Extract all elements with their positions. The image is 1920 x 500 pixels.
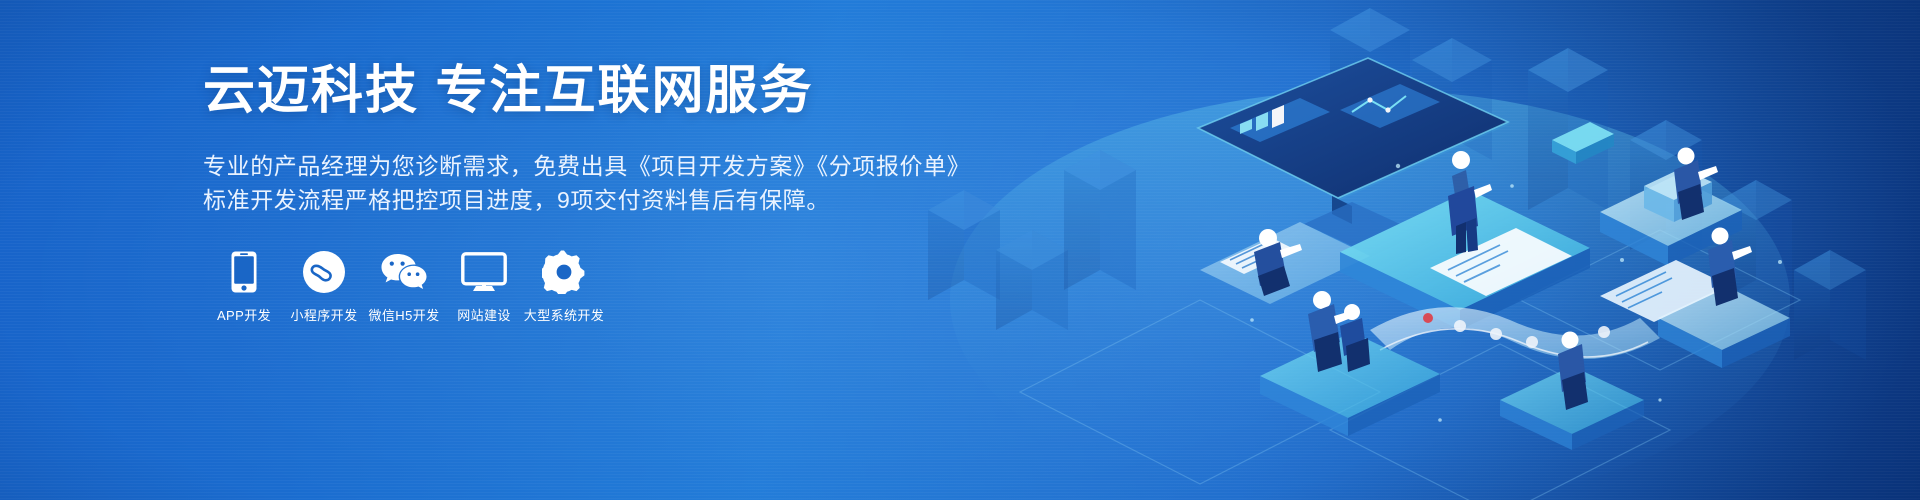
isometric-team-dashboard-illustration	[900, 0, 1920, 500]
service-label-system: 大型系统开发	[524, 305, 604, 324]
mobile-phone-icon	[231, 250, 257, 294]
monitor-icon	[461, 250, 507, 294]
banner-content: 云迈科技 专注互联网服务 专业的产品经理为您诊断需求，免费出具《项目开发方案》《…	[203, 60, 963, 324]
service-label-app: APP开发	[217, 305, 271, 324]
promo-banner: 云迈科技 专注互联网服务 专业的产品经理为您诊断需求，免费出具《项目开发方案》《…	[0, 0, 1920, 500]
service-label-miniprogram: 小程序开发	[290, 305, 357, 324]
service-item-system[interactable]: 大型系统开发	[528, 250, 600, 324]
service-label-wechat: 微信H5开发	[368, 305, 439, 324]
mini-program-icon	[303, 250, 345, 294]
service-item-miniprogram[interactable]: 小程序开发	[288, 250, 360, 324]
subtitle-block: 专业的产品经理为您诊断需求，免费出具《项目开发方案》《分项报价单》 标准开发流程…	[203, 149, 963, 217]
subtitle-line-1: 专业的产品经理为您诊断需求，免费出具《项目开发方案》《分项报价单》	[203, 149, 963, 183]
service-list: APP开发 小程序开发	[208, 250, 963, 324]
service-label-website: 网站建设	[457, 305, 511, 324]
page-title: 云迈科技 专注互联网服务	[203, 60, 963, 123]
subtitle-line-2: 标准开发流程严格把控项目进度，9项交付资料售后有保障。	[203, 183, 963, 217]
service-item-app[interactable]: APP开发	[208, 250, 280, 324]
wechat-icon	[380, 250, 428, 294]
service-item-wechat[interactable]: 微信H5开发	[368, 250, 440, 324]
service-item-website[interactable]: 网站建设	[448, 250, 520, 324]
gear-icon	[542, 250, 586, 294]
